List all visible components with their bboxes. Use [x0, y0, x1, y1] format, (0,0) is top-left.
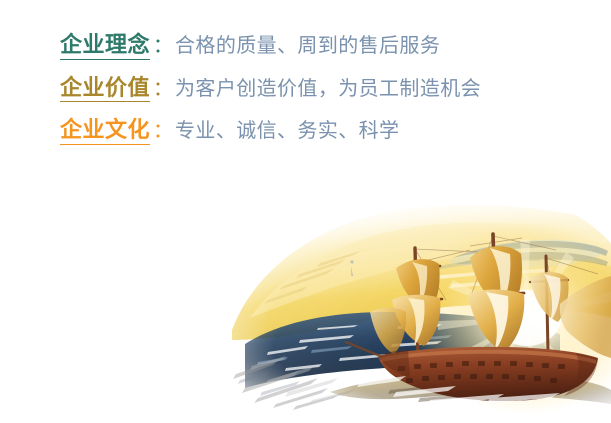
slogan-colon-value: ：	[150, 78, 175, 100]
slogan-label-philosophy: 企业理念	[60, 33, 150, 60]
ocean	[245, 312, 560, 388]
sail-far-left	[370, 308, 406, 355]
ship	[346, 234, 611, 401]
slogan-label-culture: 企业文化	[60, 118, 150, 145]
distant-boat-foam	[428, 268, 554, 288]
ship-hull	[378, 347, 598, 401]
ship-bowsprit	[346, 342, 380, 356]
sail-mizzen	[530, 272, 569, 322]
sail-fore-lower	[392, 295, 440, 346]
distant-boat	[432, 240, 608, 271]
ship-rigging	[415, 236, 598, 300]
ship-masts	[415, 234, 548, 356]
slogan-colon-culture: ：	[150, 120, 175, 142]
sail-lateen-right	[560, 276, 611, 358]
slogan-label-value: 企业价值	[60, 76, 150, 103]
slogan-line-culture: 企业文化 ： 专业、诚信、务实、科学	[60, 118, 481, 145]
sail-fore-upper	[396, 259, 440, 310]
ship-yards	[394, 258, 568, 302]
company-philosophy-banner: 企业理念 ： 合格的质量、周到的售后服务 企业价值 ： 为客户创造价值，为员工制…	[0, 0, 611, 423]
sunburst-glow	[409, 222, 611, 414]
slogan-line-value: 企业价值 ： 为客户创造价值，为员工制造机会	[60, 76, 481, 103]
stray-speck	[350, 260, 353, 276]
slogan-body-culture: 专业、诚信、务实、科学	[175, 120, 399, 142]
splash-strokes-left	[233, 356, 356, 410]
slogan-colon-philosophy: ：	[150, 35, 175, 57]
slogan-body-value: 为客户创造价值，为员工制造机会	[175, 78, 481, 100]
sky-wash	[232, 205, 611, 340]
slogan-body-philosophy: 合格的质量、周到的售后服务	[175, 35, 440, 57]
slogan-line-philosophy: 企业理念 ： 合格的质量、周到的售后服务	[60, 33, 481, 60]
slogan-list: 企业理念 ： 合格的质量、周到的售后服务 企业价值 ： 为客户创造价值，为员工制…	[60, 33, 481, 161]
sail-main-lower	[468, 290, 524, 353]
foam-foreground	[357, 376, 560, 405]
sky-brush-flecks	[264, 251, 360, 304]
ship-gun-ports	[398, 361, 565, 383]
sail-main-upper	[470, 246, 522, 312]
shore-sand	[330, 371, 611, 404]
